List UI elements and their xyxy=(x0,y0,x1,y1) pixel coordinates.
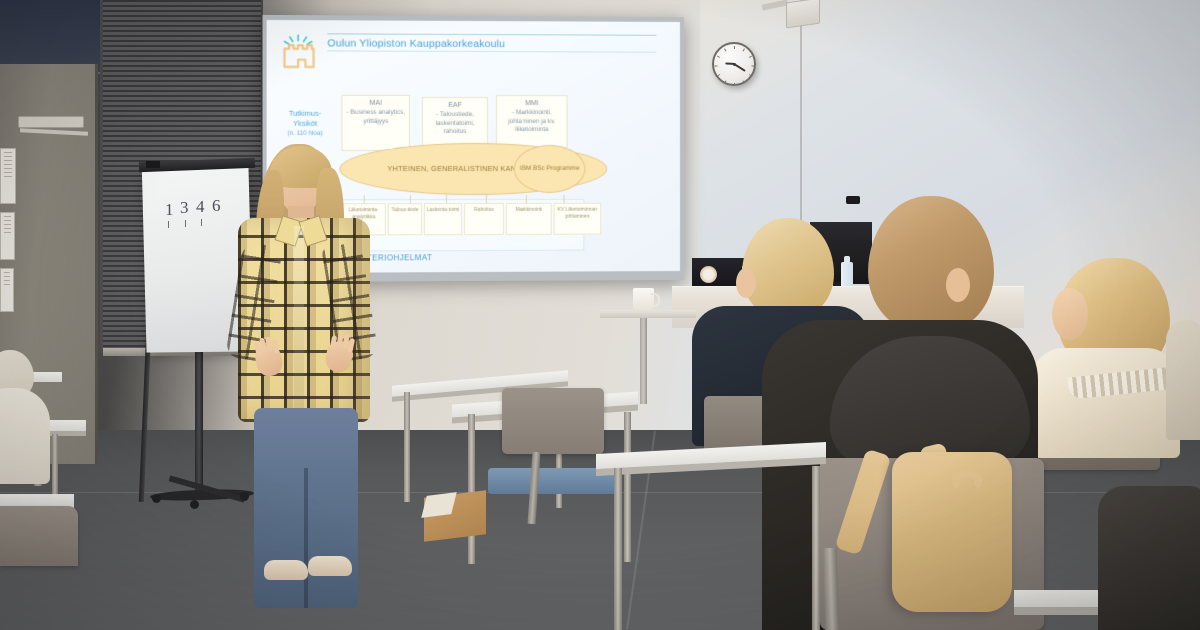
student-backpack[interactable] xyxy=(892,452,1012,612)
presenter-shirt-placket xyxy=(294,226,304,416)
coffee-mug xyxy=(633,288,654,310)
student-right-curly-face xyxy=(1052,288,1088,340)
chair-far-left[interactable] xyxy=(0,506,78,566)
student-far-left-body xyxy=(0,388,50,484)
research-units-line2: Yksiköt xyxy=(277,119,334,129)
student-foreground-head xyxy=(868,196,994,332)
door-notice xyxy=(0,268,14,312)
slide-header-title: Oulun Yliopiston Kauppakorkeakoulu xyxy=(327,37,505,50)
student-foreground-ear xyxy=(946,268,970,302)
stroller-right-foreground xyxy=(1098,486,1200,630)
student-front-left-ear xyxy=(736,268,756,298)
unit-code-eaf: EAF xyxy=(425,102,485,111)
unit-code-mmi: MMI xyxy=(499,100,565,108)
panel-sticker-icon xyxy=(700,266,717,283)
flipchart-clip xyxy=(146,161,160,168)
front-camera xyxy=(846,196,860,204)
master-box-2: Laskenta-toimi xyxy=(424,203,462,235)
master-box-3: Rahoitus xyxy=(464,203,504,235)
title-rule-bottom xyxy=(327,50,656,52)
master-box-5: KV Liiketoiminnan johtaminen xyxy=(554,203,602,235)
door-closer xyxy=(18,116,84,128)
university-of-oulu-castle-logo xyxy=(281,34,317,72)
flipchart-number-3: 6 xyxy=(212,196,221,216)
master-box-1: Talous-tiede xyxy=(388,203,422,235)
research-units-line3: (n. 110 hloa) xyxy=(277,129,334,139)
ibm-bsc-programme-ellipse: IBM BSc Programme xyxy=(514,145,585,193)
student-far-right-partial xyxy=(1166,320,1200,440)
presenter-lecturer xyxy=(232,140,374,580)
door-closer-arm xyxy=(20,128,88,136)
door-notice xyxy=(0,148,16,204)
flipchart-number-1: 3 xyxy=(180,198,189,218)
chair-back-center[interactable] xyxy=(502,388,604,454)
wall-clock xyxy=(712,42,756,86)
research-units-label: Tutkimus- Yksiköt (n. 110 hloa) xyxy=(277,109,334,139)
title-rule-top xyxy=(327,33,656,35)
flipchart-post xyxy=(195,336,203,500)
flipchart-number-2: 4 xyxy=(196,197,205,217)
unit-desc-eaf: - Taloustiede, laskentatoimi, rahoitus xyxy=(435,111,474,135)
presenter-shoe-right xyxy=(308,556,352,576)
side-table-leg xyxy=(640,318,647,404)
door-notice xyxy=(0,212,15,260)
side-table xyxy=(600,310,696,318)
master-box-4: Markkinointi xyxy=(506,203,552,235)
unit-desc-mai: - Business analytics, yrittäjyys xyxy=(346,109,405,125)
student-front-left-head xyxy=(742,218,834,318)
student-right-curly-body xyxy=(1030,348,1180,458)
unit-code-mai: MAI xyxy=(345,100,407,109)
wall-speaker xyxy=(786,0,820,28)
research-units-line1: Tutkimus- xyxy=(277,109,334,119)
presenter-shoe-left xyxy=(264,560,308,580)
unit-desc-mmi: - Markkinointi, johtaminen ja kv. liiket… xyxy=(508,109,555,133)
classroom-scene: Oulun Yliopiston Kauppakorkeakoulu Tutki… xyxy=(0,0,1200,630)
flipchart-number-0: 1 xyxy=(165,200,174,220)
clock-center-pin xyxy=(733,63,736,66)
backpack-handle-loop xyxy=(952,470,982,492)
